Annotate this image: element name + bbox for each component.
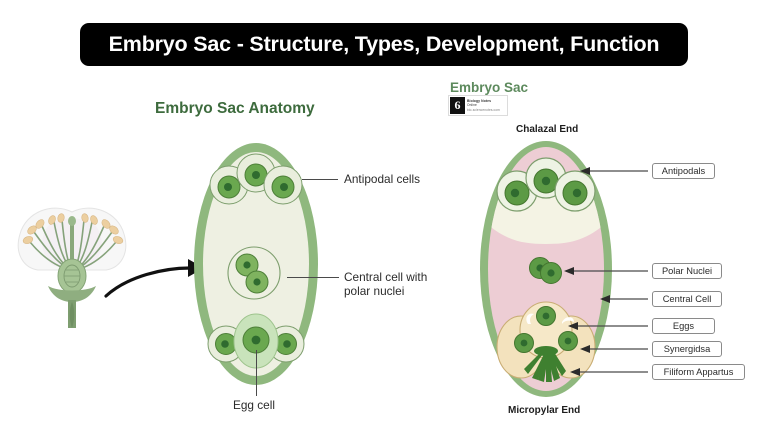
label-chalazal-end: Chalazal End (516, 124, 578, 135)
pointer-synergids (568, 343, 648, 355)
right-panel-heading: Embryo Sac (450, 80, 528, 95)
leader-line-egg-cell (256, 350, 257, 396)
label-antipodal-cells: Antipodal cells (344, 172, 420, 186)
callout-antipodals: Antipodals (652, 163, 715, 179)
label-central-cell-line2: polar nuclei (344, 284, 427, 298)
pointer-antipodals (568, 165, 648, 177)
callout-central-cell: Central Cell (652, 291, 722, 307)
pointer-filiform-apparatus (558, 366, 648, 378)
page-title: Embryo Sac - Structure, Types, Developme… (109, 32, 660, 57)
callout-filiform-apparatus: Filiform Appartus (652, 364, 745, 380)
logo-line-3: bio-sciencenotes.com (467, 108, 500, 112)
page-title-banner: Embryo Sac - Structure, Types, Developme… (80, 23, 688, 66)
left-panel-heading: Embryo Sac Anatomy (155, 100, 315, 118)
page-root: Embryo Sac - Structure, Types, Developme… (0, 0, 768, 432)
callout-synergids: Synergidsa (652, 341, 722, 357)
label-central-cell-line1: Central cell with (344, 270, 427, 284)
label-egg-cell: Egg cell (233, 398, 275, 412)
label-micropylar-end: Micropylar End (508, 405, 580, 416)
leader-line-antipodal (302, 179, 338, 180)
logo-wordmark: Biology Notes Online bio-sciencenotes.co… (467, 99, 500, 112)
logo-mark-icon: 6 (450, 97, 465, 114)
pointer-central-cell (588, 293, 648, 305)
label-central-cell: Central cell with polar nuclei (344, 270, 427, 299)
brand-logo: 6 Biology Notes Online bio-sciencenotes.… (448, 95, 508, 116)
callout-polar-nuclei: Polar Nuclei (652, 263, 722, 279)
pointer-polar-nuclei (552, 265, 648, 277)
leader-line-central-cell (287, 277, 339, 278)
pointer-eggs (556, 320, 648, 332)
callout-eggs: Eggs (652, 318, 715, 334)
